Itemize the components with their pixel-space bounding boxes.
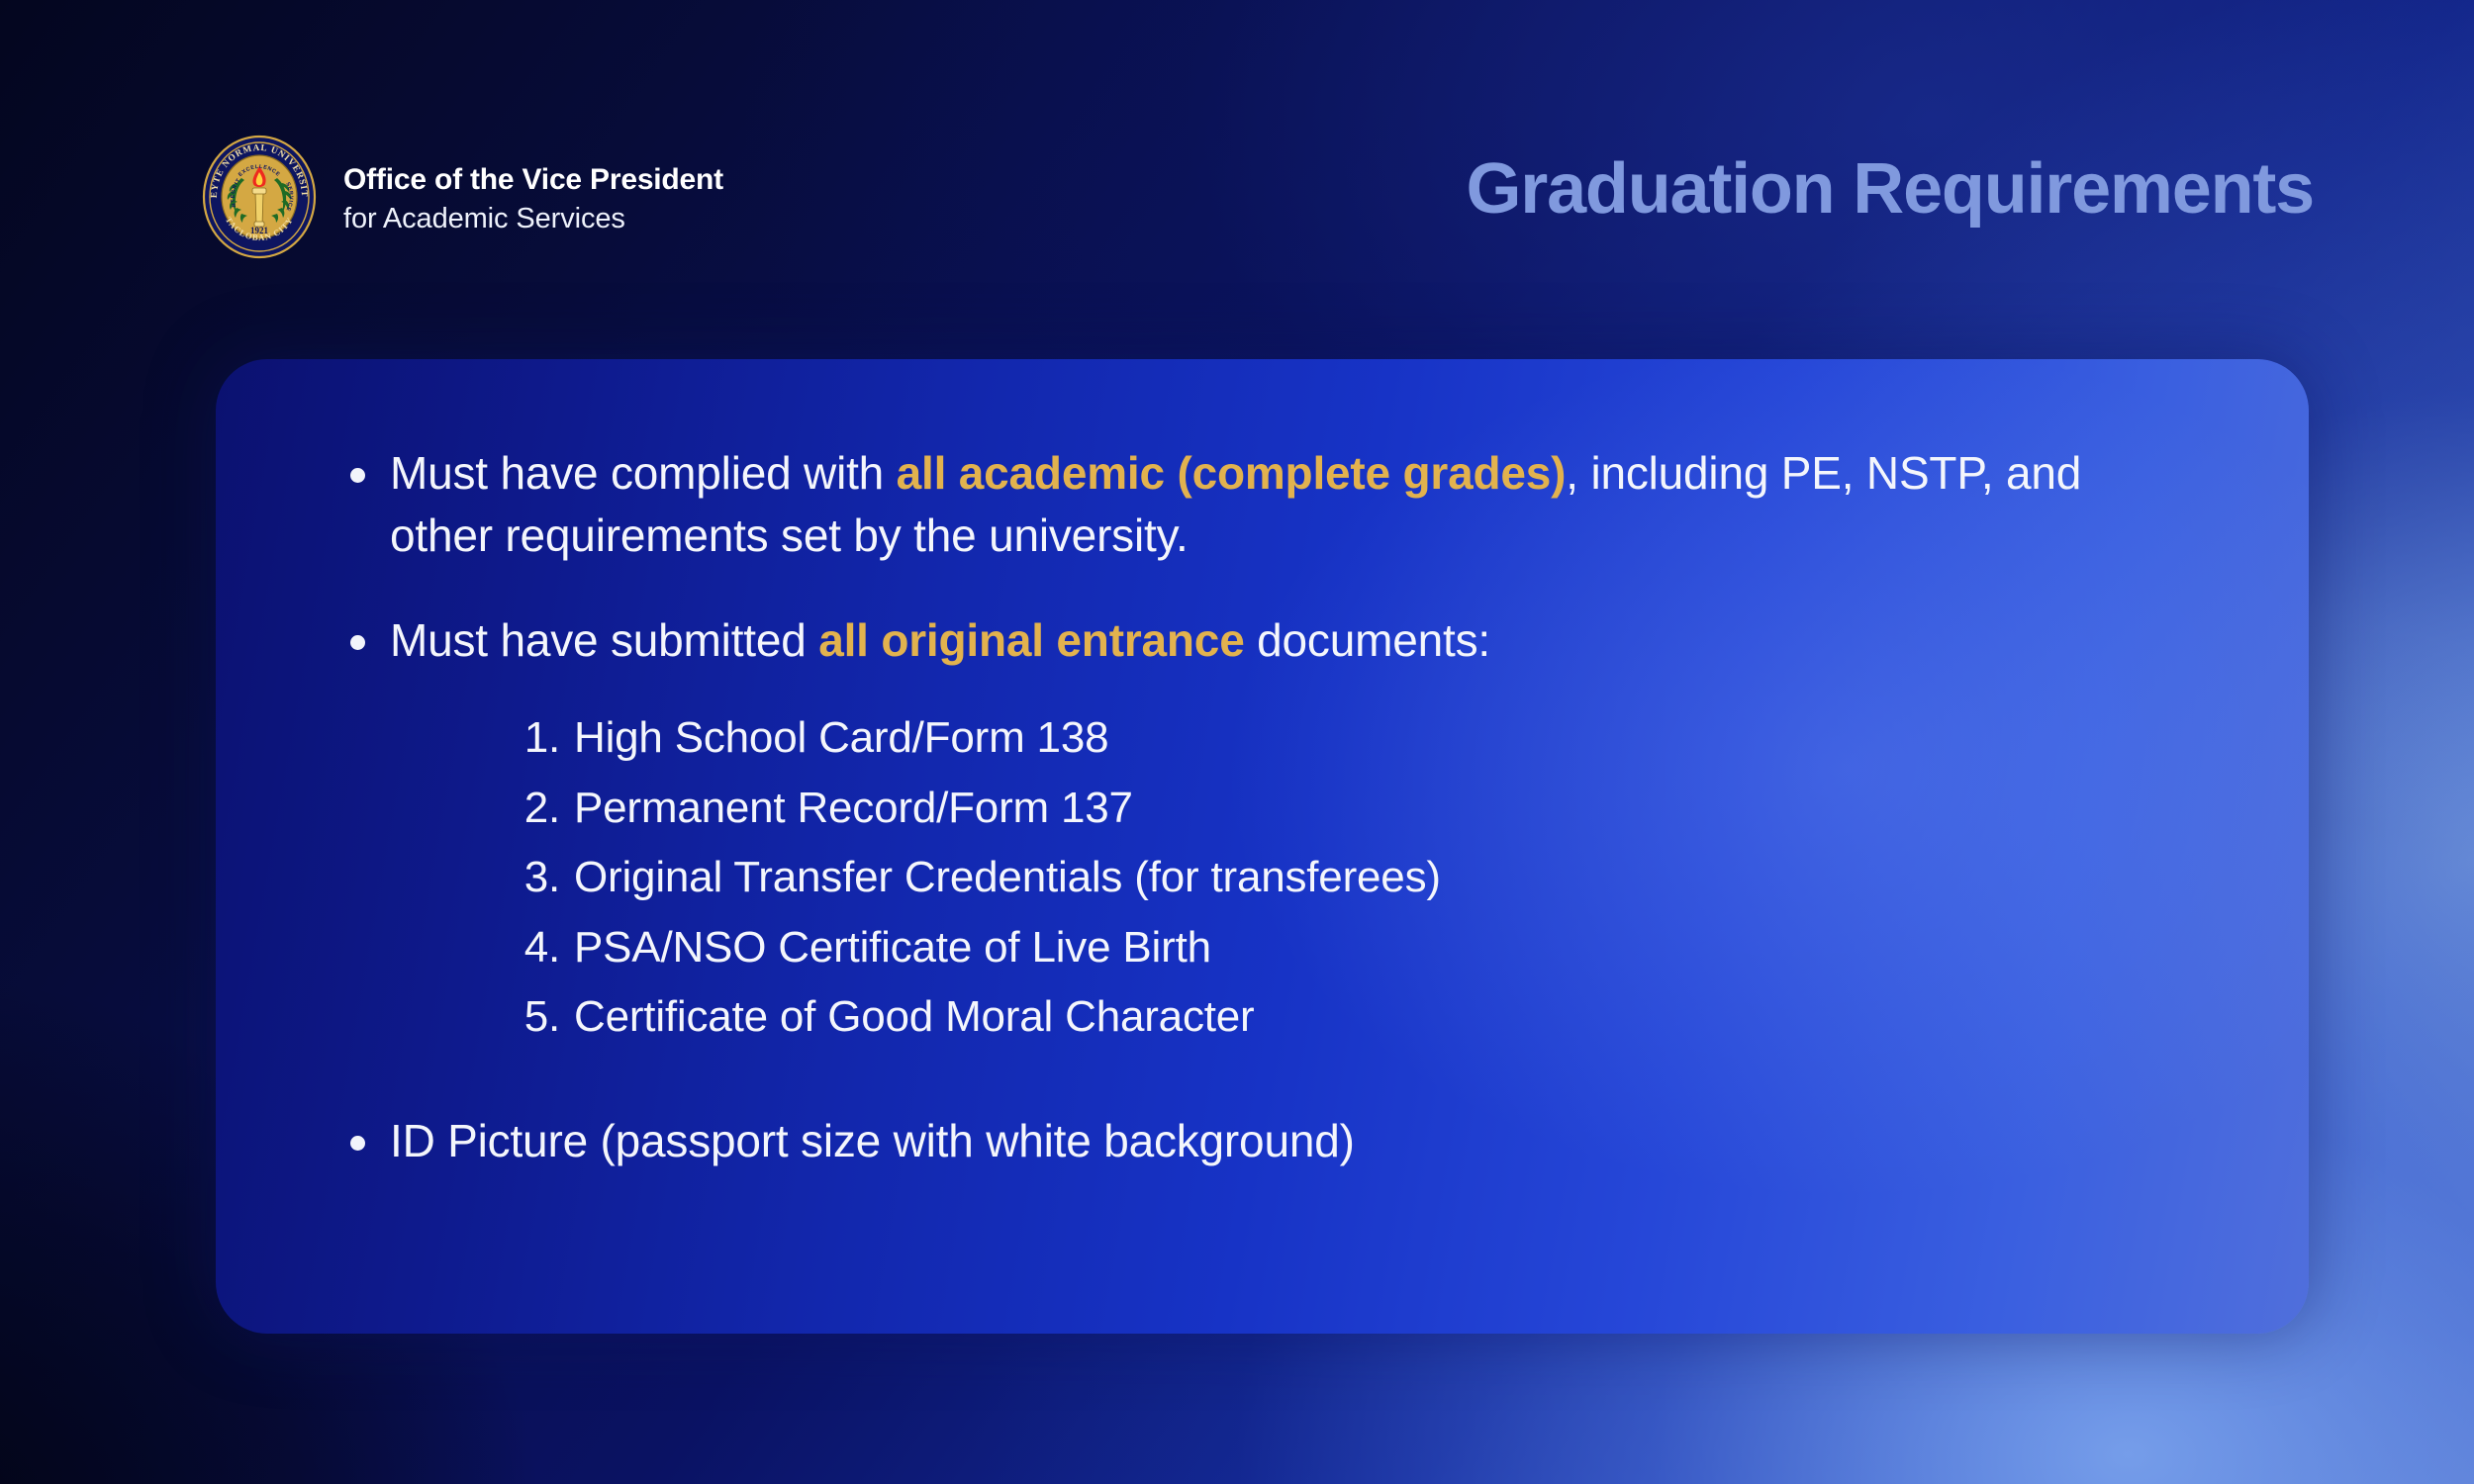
list-item: 4.PSA/NSO Certificate of Live Birth — [499, 919, 2190, 977]
text-run: documents: — [1245, 614, 1490, 666]
list-item: 1.High School Card/Form 138 — [499, 709, 2190, 768]
bullet-text: ID Picture (passport size with white bac… — [390, 1110, 1355, 1172]
brand-text-block: Office of the Vice President for Academi… — [343, 161, 723, 233]
slide-canvas: LEYTE NORMAL UNIVERSITY TACLOBAN CITY EX… — [0, 0, 2474, 1484]
seal-year-text: 1921 — [250, 226, 269, 235]
list-item-number: 3. — [499, 849, 560, 907]
content-card: Must have complied with all academic (co… — [216, 359, 2309, 1334]
list-item: 3.Original Transfer Credentials (for tra… — [499, 849, 2190, 907]
office-name-primary: Office of the Vice President — [343, 165, 723, 195]
list-item-label: PSA/NSO Certificate of Live Birth — [574, 919, 1211, 977]
text-run: ID Picture (passport size with white bac… — [390, 1115, 1355, 1166]
bullet-item-academic-requirements: Must have complied with all academic (co… — [350, 442, 2190, 568]
content-card-body: Must have complied with all academic (co… — [216, 359, 2309, 1172]
brand-lockup: LEYTE NORMAL UNIVERSITY TACLOBAN CITY EX… — [201, 135, 723, 259]
list-item-label: High School Card/Form 138 — [574, 709, 1108, 768]
bullet-text: Must have submitted all original entranc… — [390, 609, 1490, 672]
list-item-label: Permanent Record/Form 137 — [574, 780, 1133, 838]
list-item: 5.Certificate of Good Moral Character — [499, 988, 2190, 1047]
entrance-documents-list: 1.High School Card/Form 1382.Permanent R… — [350, 709, 2190, 1047]
list-item-number: 1. — [499, 709, 560, 768]
list-item: 2.Permanent Record/Form 137 — [499, 780, 2190, 838]
bullet-dot-icon — [350, 468, 365, 483]
highlighted-phrase: all original entrance — [818, 614, 1244, 666]
university-seal-icon: LEYTE NORMAL UNIVERSITY TACLOBAN CITY EX… — [201, 135, 318, 259]
list-item-number: 5. — [499, 988, 560, 1047]
bullet-dot-icon — [350, 1136, 365, 1151]
text-run: Must have submitted — [390, 614, 818, 666]
bullet-dot-icon — [350, 635, 365, 650]
list-item-label: Certificate of Good Moral Character — [574, 988, 1255, 1047]
list-item-number: 4. — [499, 919, 560, 977]
slide-header: LEYTE NORMAL UNIVERSITY TACLOBAN CITY EX… — [0, 0, 2474, 297]
bullet-text: Must have complied with all academic (co… — [390, 442, 2151, 568]
page-title: Graduation Requirements — [1466, 148, 2314, 230]
list-item-number: 2. — [499, 780, 560, 838]
list-item-label: Original Transfer Credentials (for trans… — [574, 849, 1441, 907]
office-name-secondary: for Academic Services — [343, 205, 723, 233]
text-run: Must have complied with — [390, 447, 897, 499]
bullet-item-id-picture: ID Picture (passport size with white bac… — [350, 1110, 2190, 1172]
bullet-item-entrance-documents: Must have submitted all original entranc… — [350, 609, 2190, 672]
highlighted-phrase: all academic (complete grades) — [897, 447, 1567, 499]
